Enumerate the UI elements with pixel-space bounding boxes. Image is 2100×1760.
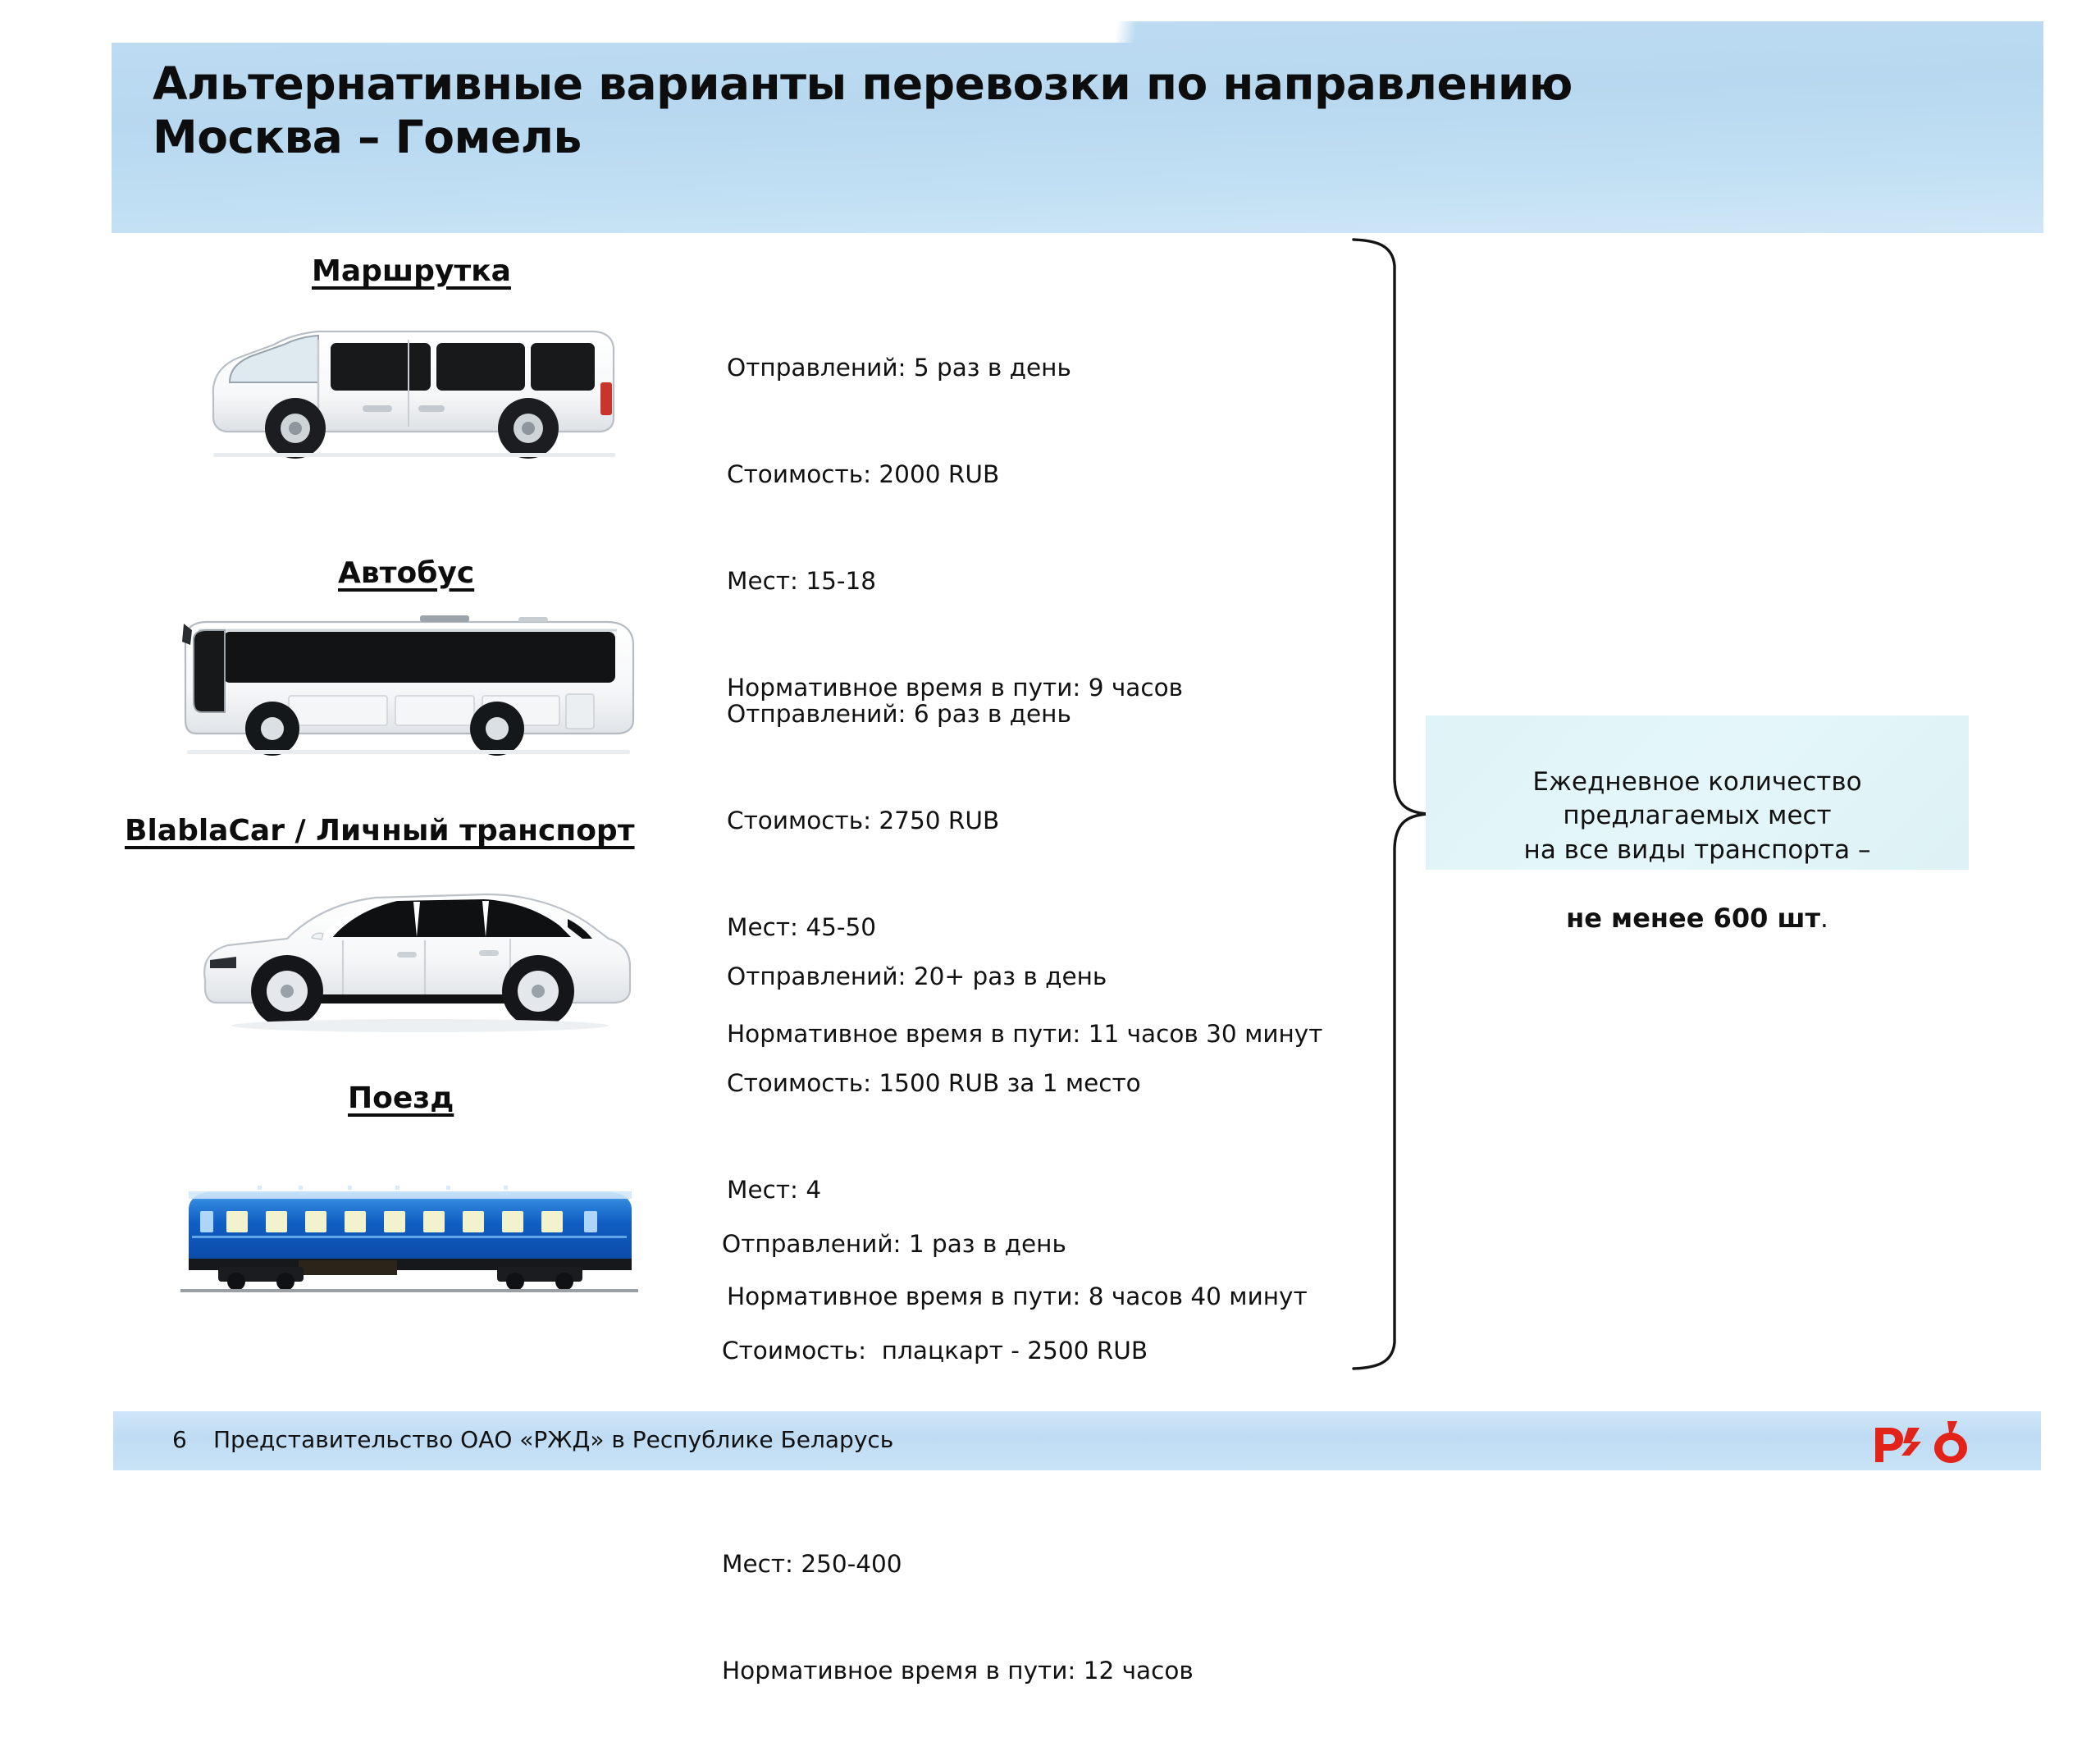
summary-callout-text: Ежедневное количество предлагаемых мест … — [1426, 732, 1969, 936]
page-number: 6 — [172, 1426, 187, 1453]
departures-line: Отправлений: 6 раз в день — [727, 697, 1322, 732]
price-line: Стоимость: 2750 RUB — [727, 803, 1322, 839]
summary-callout-period: . — [1820, 904, 1828, 934]
rzd-logo — [1872, 1416, 1970, 1465]
duration-line: Нормативное время в пути: 12 часов — [722, 1653, 1194, 1689]
coach-bus-illustration — [174, 606, 650, 761]
footer-organization-text: Представительство ОАО «РЖД» в Республике… — [213, 1426, 893, 1453]
page-title: Альтернативные варианты перевозки по нап… — [153, 57, 1793, 164]
price-line: Стоимость: 1500 RUB за 1 место — [727, 1066, 1308, 1101]
departures-line: Отправлений: 20+ раз в день — [727, 959, 1308, 994]
departures-line: Отправлений: 5 раз в день — [727, 350, 1183, 386]
minibus-illustration — [195, 304, 655, 468]
suv-car-illustration — [182, 875, 641, 1039]
transport-label-blablacar: BlablaCar / Личный транспорт — [125, 814, 635, 848]
slide-canvas: Альтернативные варианты перевозки по нап… — [0, 0, 2100, 1485]
transport-label-poezd: Поезд — [348, 1081, 454, 1115]
transport-label-marshrutka: Маршрутка — [312, 254, 511, 288]
transport-label-avtobus: Автобус — [338, 556, 474, 590]
summary-callout-lead: Ежедневное количество предлагаемых мест … — [1524, 767, 1871, 864]
price-line: Стоимость: плацкарт - 2500 RUB — [722, 1333, 1194, 1369]
price-line: Стоимость: 2000 RUB — [727, 457, 1183, 492]
departures-line: Отправлений: 1 раз в день — [722, 1227, 1194, 1262]
summary-callout-highlight: не менее 600 шт — [1566, 903, 1820, 934]
summary-callout: Ежедневное количество предлагаемых мест … — [1426, 715, 1969, 870]
seats-line: Мест: 15-18 — [727, 564, 1183, 599]
seats-line: Мест: 250-400 — [722, 1547, 1194, 1582]
passenger-railcar-illustration — [176, 1175, 643, 1298]
